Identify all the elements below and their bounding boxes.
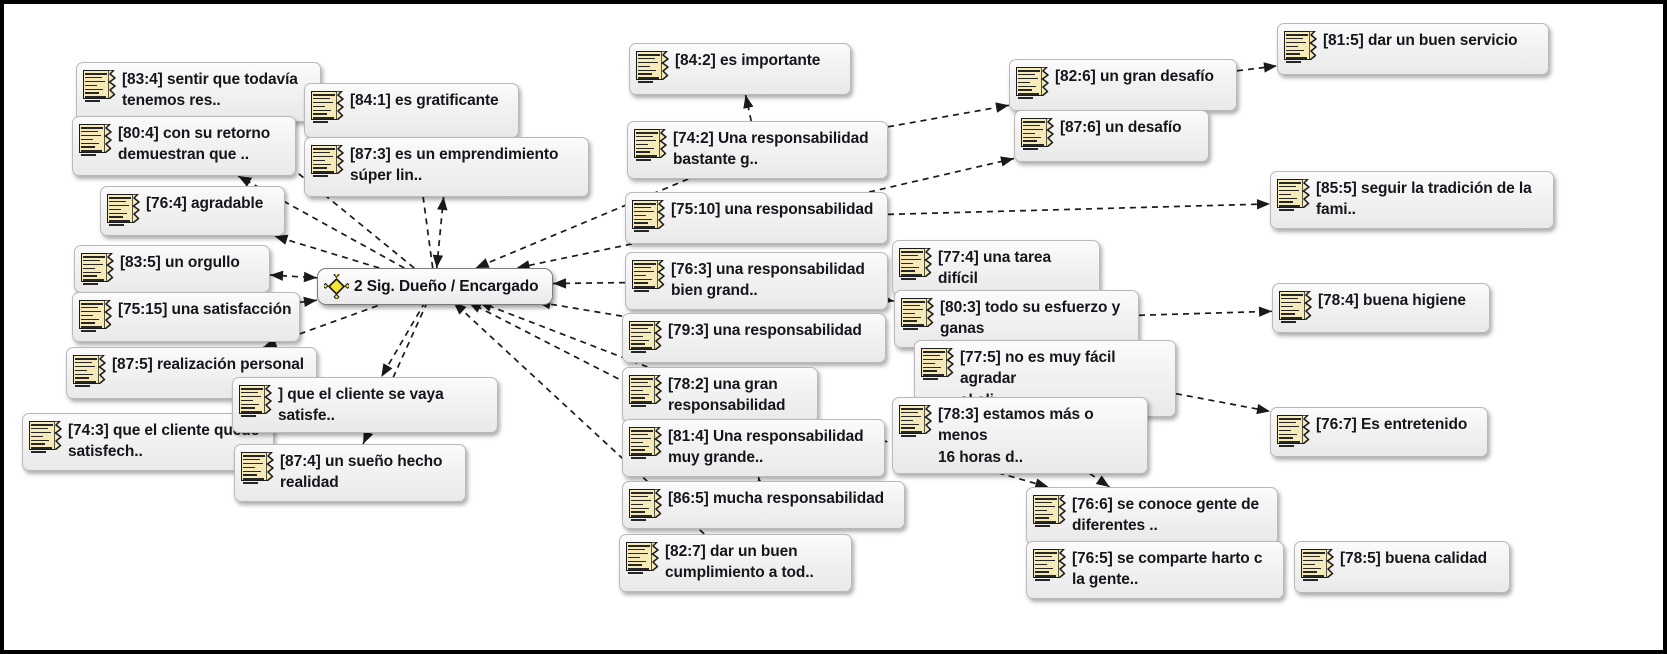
arrowhead	[303, 297, 317, 307]
quotation-document-icon	[1277, 179, 1311, 208]
quotation-node[interactable]: [76:7] Es entretenido	[1270, 407, 1488, 457]
edge	[743, 95, 753, 121]
quotation-document-icon	[921, 348, 955, 377]
quotation-node[interactable]: [87:4] un sueño hecho realidad	[234, 444, 466, 502]
quotation-document-icon	[1033, 495, 1067, 524]
quotation-document-icon	[311, 91, 345, 120]
node-label: [78:3] estamos más o menos 16 horas d..	[938, 404, 1140, 468]
arrowhead	[270, 271, 283, 281]
quotation-node[interactable]: [81:4] Una responsabilidad muy grande..	[622, 419, 885, 477]
code-diamond-icon	[324, 274, 349, 299]
node-label: [80:3] todo su esfuerzo y ganas	[940, 297, 1120, 340]
node-label: [83:5] un orgullo	[120, 252, 240, 273]
quotation-document-icon	[311, 145, 345, 174]
arrowhead	[304, 272, 317, 282]
quotation-document-icon	[899, 405, 933, 434]
quotation-document-icon	[1016, 67, 1050, 96]
edge	[433, 197, 448, 268]
quotation-document-icon	[1279, 291, 1313, 320]
quotation-node[interactable]: [75:10] una responsabilidad	[625, 192, 888, 244]
quotation-document-icon	[1021, 118, 1055, 147]
arrowhead	[1257, 199, 1270, 209]
edge	[1237, 62, 1277, 72]
node-label: [76:5] se comparte harto c la gente..	[1072, 548, 1262, 591]
node-label: [75:15] una satisfacción	[118, 299, 291, 320]
quotation-node[interactable]: [83:4] sentir que todavía tenemos res..	[76, 62, 321, 122]
quotation-node[interactable]: [76:5] se comparte harto c la gente..	[1026, 541, 1284, 599]
arrowhead	[476, 258, 490, 268]
node-label: [82:7] dar un buen cumplimiento a tod..	[665, 541, 814, 584]
quotation-document-icon	[629, 489, 663, 518]
arrowhead	[553, 278, 566, 288]
quotation-document-icon	[241, 452, 275, 481]
node-label: [82:6] un gran desafío	[1055, 66, 1214, 87]
arrowhead	[995, 102, 1009, 112]
arrowhead	[1096, 475, 1110, 487]
node-label: [85:5] seguir la tradición de la fami..	[1316, 178, 1532, 221]
quotation-document-icon	[83, 70, 117, 99]
node-label: [76:3] una responsabilidad bien grand..	[671, 259, 865, 302]
quotation-node[interactable]: [85:5] seguir la tradición de la fami..	[1270, 171, 1554, 229]
node-label: [84:2] es importante	[675, 50, 820, 71]
quotation-node[interactable]: ] que el cliente se vaya satisfe..	[232, 377, 498, 433]
edge	[517, 244, 632, 270]
edge	[553, 278, 625, 288]
quotation-node[interactable]: [87:6] un desafío	[1014, 110, 1209, 162]
node-label: [87:6] un desafío	[1060, 117, 1181, 138]
node-label: [86:5] mucha responsabilidad	[668, 488, 884, 509]
quotation-node[interactable]: [74:2] Una responsabilidad bastante g..	[627, 121, 888, 179]
quotation-node[interactable]: [78:4] buena higiene	[1272, 283, 1490, 333]
quotation-document-icon	[626, 542, 660, 571]
arrowhead	[433, 255, 443, 268]
node-label: [80:4] con su retorno demuestran que ..	[118, 123, 270, 166]
quotation-node[interactable]: [86:5] mucha responsabilidad	[622, 481, 905, 529]
quotation-node[interactable]: [80:4] con su retorno demuestran que ..	[72, 116, 296, 176]
quotation-document-icon	[107, 194, 141, 223]
network-diagram-canvas[interactable]: [83:4] sentir que todavía tenemos res..[…	[0, 0, 1667, 654]
edge	[300, 297, 317, 307]
quotation-node[interactable]: [79:3] una responsabilidad	[622, 313, 886, 363]
arrowhead	[1256, 404, 1270, 414]
quotation-node[interactable]: [87:3] es un emprendimiento súper lin..	[304, 137, 589, 197]
node-label: [76:6] se conoce gente de diferentes ..	[1072, 494, 1259, 537]
arrowhead	[1259, 307, 1272, 317]
edge	[270, 271, 317, 283]
quotation-node[interactable]: [82:6] un gran desafío	[1009, 59, 1237, 111]
node-label: [76:4] agradable	[146, 193, 263, 214]
edge	[274, 235, 379, 268]
quotation-node[interactable]: [84:2] es importante	[629, 43, 851, 95]
node-label: [84:1] es gratificante	[350, 90, 499, 111]
node-label: [81:5] dar un buen servicio	[1323, 30, 1518, 51]
quotation-document-icon	[632, 200, 666, 229]
node-label: ] que el cliente se vaya satisfe..	[278, 384, 444, 427]
central-code-node[interactable]: 2 Sig. Dueño / Encargado	[317, 268, 553, 305]
quotation-node[interactable]: [76:3] una responsabilidad bien grand..	[625, 252, 888, 310]
quotation-document-icon	[79, 124, 113, 153]
node-label: [87:4] un sueño hecho realidad	[280, 451, 442, 494]
node-label: 2 Sig. Dueño / Encargado	[354, 276, 539, 297]
node-label: [87:3] es un emprendimiento súper lin..	[350, 144, 558, 187]
quotation-node[interactable]: [75:15] una satisfacción	[72, 292, 300, 342]
edge	[1139, 307, 1272, 317]
quotation-document-icon	[1033, 549, 1067, 578]
quotation-document-icon	[29, 421, 63, 450]
quotation-document-icon	[73, 355, 107, 384]
quotation-document-icon	[81, 253, 115, 282]
quotation-node[interactable]: [78:5] buena calidad	[1294, 541, 1510, 593]
quotation-document-icon	[634, 129, 668, 158]
arrowhead	[1264, 62, 1278, 72]
node-label: [78:4] buena higiene	[1318, 290, 1466, 311]
quotation-document-icon	[636, 51, 670, 80]
node-label: [87:5] realización personal	[112, 354, 304, 375]
quotation-document-icon	[1277, 415, 1311, 444]
quotation-document-icon	[1301, 549, 1335, 578]
node-label: [74:2] Una responsabilidad bastante g..	[673, 128, 869, 171]
quotation-document-icon	[899, 248, 933, 277]
quotation-node[interactable]: [81:5] dar un buen servicio	[1277, 23, 1549, 75]
edge	[888, 102, 1009, 126]
node-label: [79:3] una responsabilidad	[668, 320, 862, 341]
arrowhead	[381, 363, 392, 377]
quotation-node[interactable]: [78:3] estamos más o menos 16 horas d..	[892, 397, 1148, 474]
quotation-node[interactable]: [84:1] es gratificante	[304, 83, 519, 138]
quotation-node[interactable]: [82:7] dar un buen cumplimiento a tod..	[619, 534, 852, 592]
edge	[381, 302, 425, 377]
edge	[888, 199, 1270, 214]
node-label: [78:5] buena calidad	[1340, 548, 1487, 569]
quotation-document-icon	[632, 260, 666, 289]
node-label: [77:4] una tarea difícil	[938, 247, 1092, 290]
quotation-document-icon	[629, 427, 663, 456]
quotation-node[interactable]: [83:5] un orgullo	[74, 245, 270, 293]
quotation-node[interactable]: [76:6] se conoce gente de diferentes ..	[1026, 487, 1278, 545]
quotation-document-icon	[239, 385, 273, 414]
node-label: [78:2] una gran responsabilidad	[668, 374, 785, 417]
quotation-document-icon	[629, 321, 663, 350]
arrowhead	[274, 235, 288, 245]
node-label: [76:7] Es entretenido	[1316, 414, 1467, 435]
arrowhead	[1000, 156, 1014, 166]
node-label: [83:4] sentir que todavía tenemos res..	[122, 69, 298, 112]
quotation-document-icon	[1284, 31, 1318, 60]
quotation-node[interactable]: [78:2] una gran responsabilidad	[622, 367, 818, 423]
quotation-node[interactable]: [77:4] una tarea difícil	[892, 240, 1100, 296]
quotation-document-icon	[901, 298, 935, 327]
arrowhead	[743, 95, 753, 109]
quotation-node[interactable]: [76:4] agradable	[100, 186, 285, 236]
edge	[869, 156, 1014, 192]
node-label: [75:10] una responsabilidad	[671, 199, 873, 220]
quotation-document-icon	[79, 300, 113, 329]
node-label: [81:4] Una responsabilidad muy grande..	[668, 426, 864, 469]
arrowhead	[437, 197, 447, 210]
edge	[1176, 394, 1270, 414]
node-label: [74:3] que el cliente quede satisfech..	[68, 420, 259, 463]
quotation-document-icon	[629, 375, 663, 404]
